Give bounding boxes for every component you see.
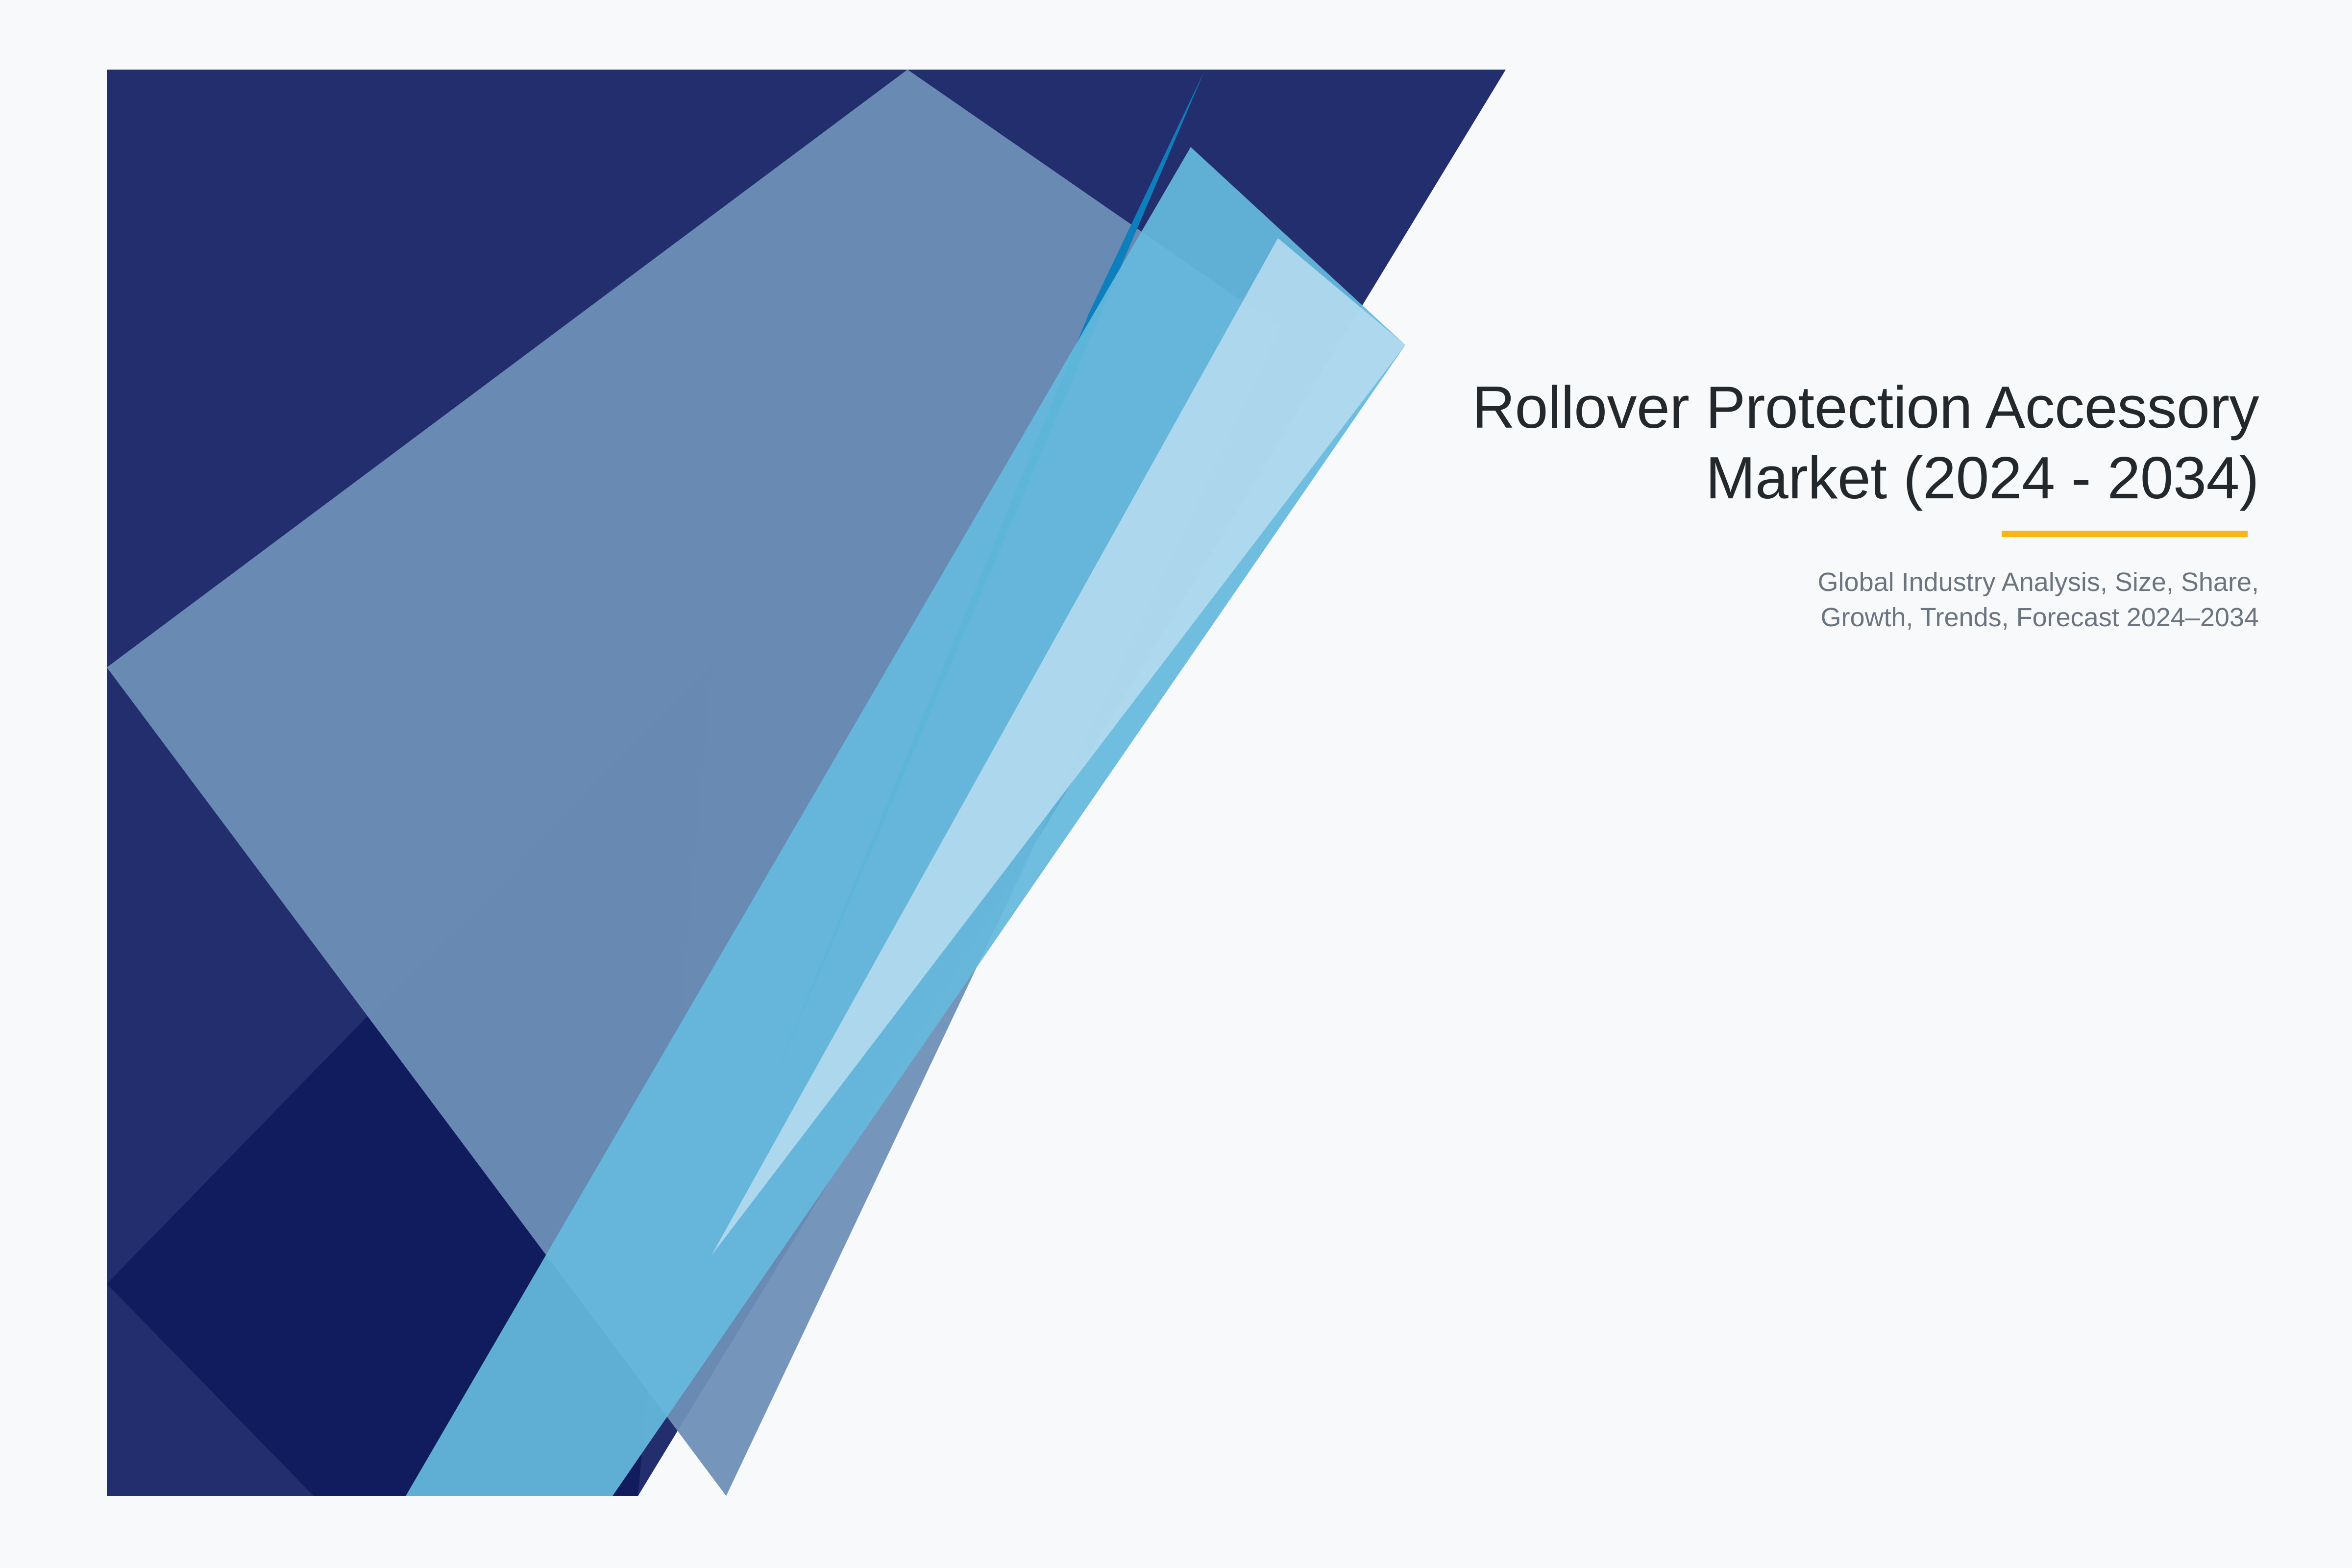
page-title: Rollover Protection Accessory Market (20… <box>936 372 2259 514</box>
cover-text-block: Rollover Protection Accessory Market (20… <box>936 372 2259 636</box>
report-cover-page: Rollover Protection Accessory Market (20… <box>0 0 2352 1568</box>
title-accent-underline <box>2002 531 2248 537</box>
abstract-geometric-banner <box>0 0 2352 1568</box>
